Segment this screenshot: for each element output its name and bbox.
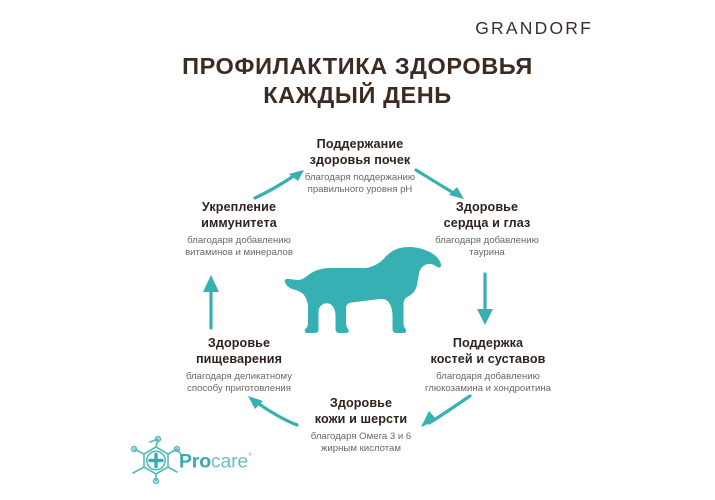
arrow-down-left-icon <box>418 392 474 430</box>
cycle-node-heart-and-eyes-title: Здоровье сердца и глаз <box>412 200 562 231</box>
cycle-node-skin-and-coat-title-line-1: Здоровье <box>283 396 439 412</box>
cycle-node-digestion-title: Здоровье пищеварения <box>163 336 315 367</box>
cycle-node-skin-and-coat: Здоровье кожи и шерсти благодаря Омега 3… <box>283 396 439 455</box>
cycle-node-kidney-title: Поддержание здоровья почек <box>285 137 435 168</box>
arrow-up-right-icon <box>252 166 308 202</box>
cycle-node-immunity-title-line-2: иммунитета <box>163 216 315 232</box>
infographic-page: GRANDORF ПРОФИЛАКТИКА ЗДОРОВЬЯ КАЖДЫЙ ДЕ… <box>0 0 715 500</box>
arrow-up-icon <box>196 272 226 330</box>
procare-wordmark: Procare° <box>179 447 252 473</box>
page-title-line-2: КАЖДЫЙ ДЕНЬ <box>0 81 715 110</box>
cycle-node-skin-and-coat-title: Здоровье кожи и шерсти <box>283 396 439 427</box>
cycle-node-bones-and-joints-title: Поддержка костей и суставов <box>410 336 566 367</box>
cycle-node-skin-and-coat-subtitle: благодаря Омега 3 и 6 жирным кислотам <box>283 431 439 455</box>
cycle-node-bones-and-joints-title-line-1: Поддержка <box>410 336 566 352</box>
cycle-node-immunity-title-line-1: Укрепление <box>163 200 315 216</box>
cycle-node-digestion: Здоровье пищеварения благодаря деликатно… <box>163 336 315 395</box>
cycle-node-bones-and-joints: Поддержка костей и суставов благодаря до… <box>410 336 566 395</box>
procare-logo: Procare° <box>128 436 256 484</box>
molecule-plus-icon <box>128 436 184 484</box>
cycle-node-bones-and-joints-title-line-2: костей и суставов <box>410 352 566 368</box>
dog-silhouette-icon <box>282 244 442 336</box>
cycle-node-bones-and-joints-sub-line-1: благодаря добавлению <box>410 371 566 383</box>
cycle-node-skin-and-coat-sub-line-1: благодаря Омега 3 и 6 <box>283 431 439 443</box>
cycle-node-skin-and-coat-title-line-2: кожи и шерсти <box>283 412 439 428</box>
grandorf-brand-logo: GRANDORF <box>475 18 593 39</box>
cycle-node-heart-and-eyes-title-line-1: Здоровье <box>412 200 562 216</box>
procare-degree-mark: ° <box>248 452 252 463</box>
cycle-node-digestion-sub-line-1: благодаря деликатному <box>163 371 315 383</box>
cycle-node-digestion-title-line-1: Здоровье <box>163 336 315 352</box>
page-title: ПРОФИЛАКТИКА ЗДОРОВЬЯ КАЖДЫЙ ДЕНЬ <box>0 52 715 110</box>
cycle-node-immunity-title: Укрепление иммунитета <box>163 200 315 231</box>
procare-word-pro: Pro <box>179 451 211 473</box>
procare-word-care: care <box>211 451 248 473</box>
arrow-up-left-icon <box>244 392 300 430</box>
arrow-down-right-icon <box>412 166 468 202</box>
cycle-node-heart-and-eyes-title-line-2: сердца и глаз <box>412 216 562 232</box>
cycle-node-digestion-title-line-2: пищеварения <box>163 352 315 368</box>
page-title-line-1: ПРОФИЛАКТИКА ЗДОРОВЬЯ <box>182 53 533 79</box>
cycle-node-skin-and-coat-sub-line-2: жирным кислотам <box>283 443 439 455</box>
arrow-down-icon <box>470 272 500 328</box>
cycle-node-kidney-title-line-1: Поддержание <box>285 137 435 153</box>
